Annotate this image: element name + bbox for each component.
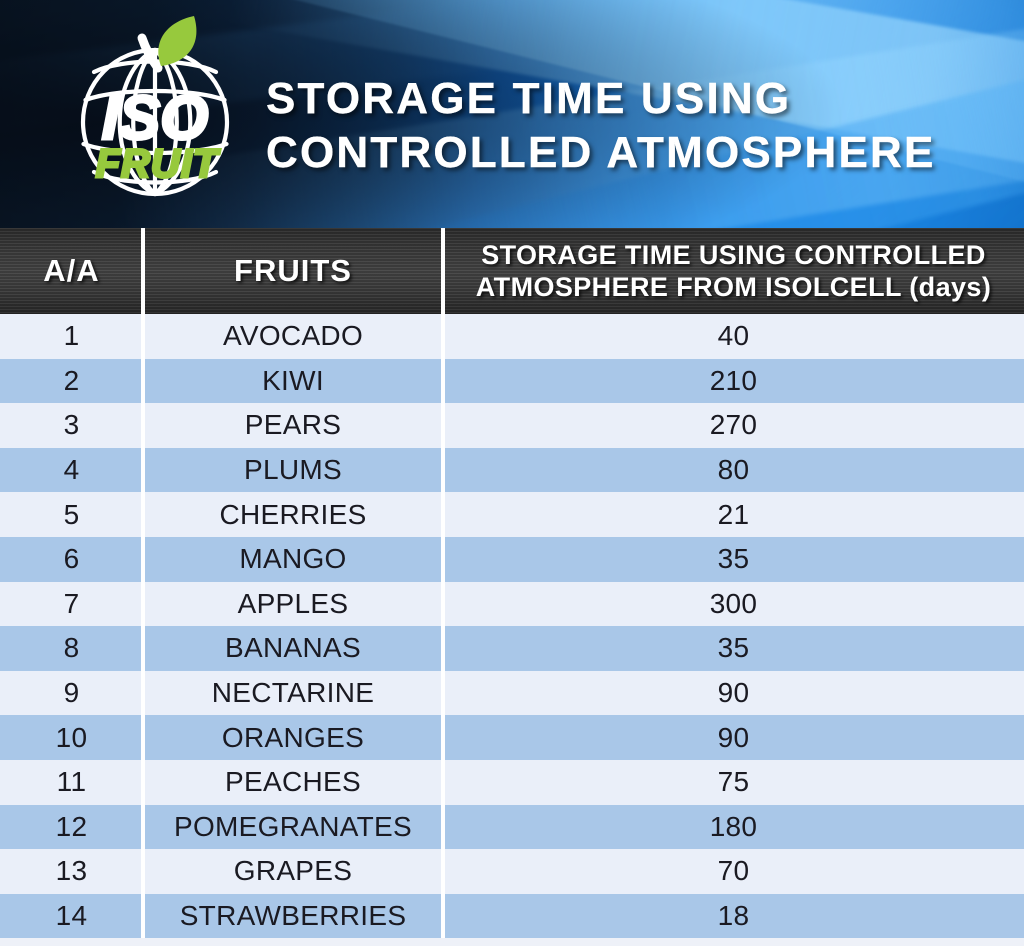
table-row: 9NECTARINE90 xyxy=(0,671,1024,716)
cell-fruit: AVOCADO xyxy=(143,314,443,359)
page-root: ISO FRUIT STORAGE TIME USING CONTROLLED … xyxy=(0,0,1024,946)
cell-aa: 7 xyxy=(0,582,143,627)
column-header-fruits: FRUITS xyxy=(143,228,443,314)
cell-fruit: PLUMS xyxy=(143,448,443,493)
cell-fruit: NECTARINE xyxy=(143,671,443,716)
table-row: 8BANANAS35 xyxy=(0,626,1024,671)
table-row: 7APPLES300 xyxy=(0,582,1024,627)
cell-aa: 10 xyxy=(0,715,143,760)
cell-days: 90 xyxy=(443,671,1024,716)
table-row: 1AVOCADO40 xyxy=(0,314,1024,359)
table-row: 3PEARS270 xyxy=(0,403,1024,448)
column-header-storage-time-line-1: STORAGE TIME USING CONTROLLED xyxy=(476,239,991,271)
cell-fruit: PEACHES xyxy=(143,760,443,805)
table-row: 14STRAWBERRIES18 xyxy=(0,894,1024,939)
table-header-row: A/A FRUITS STORAGE TIME USING CONTROLLED… xyxy=(0,228,1024,314)
cell-days: 80 xyxy=(443,448,1024,493)
cell-aa: 11 xyxy=(0,760,143,805)
table-body: 1AVOCADO402KIWI2103PEARS2704PLUMS805CHER… xyxy=(0,314,1024,938)
cell-fruit: MANGO xyxy=(143,537,443,582)
table-row: 10ORANGES90 xyxy=(0,715,1024,760)
cell-aa: 9 xyxy=(0,671,143,716)
table-row: 12POMEGRANATES180 xyxy=(0,805,1024,850)
cell-aa: 3 xyxy=(0,403,143,448)
cell-fruit: KIWI xyxy=(143,359,443,404)
cell-aa: 4 xyxy=(0,448,143,493)
page-title-line-2: CONTROLLED ATMOSPHERE xyxy=(266,126,1012,180)
table-row: 11PEACHES75 xyxy=(0,760,1024,805)
table-row: 2KIWI210 xyxy=(0,359,1024,404)
table-row: 6MANGO35 xyxy=(0,537,1024,582)
cell-days: 270 xyxy=(443,403,1024,448)
cell-days: 180 xyxy=(443,805,1024,850)
cell-aa: 2 xyxy=(0,359,143,404)
logo-text-fruit: FRUIT xyxy=(96,142,221,186)
column-header-aa: A/A xyxy=(0,228,143,314)
cell-days: 40 xyxy=(443,314,1024,359)
cell-days: 35 xyxy=(443,626,1024,671)
cell-aa: 1 xyxy=(0,314,143,359)
cell-aa: 8 xyxy=(0,626,143,671)
column-header-storage-time-line-2: ATMOSPHERE FROM ISOLCELL (days) xyxy=(476,271,991,303)
page-title-line-1: STORAGE TIME USING xyxy=(266,72,1012,126)
storage-time-table: A/A FRUITS STORAGE TIME USING CONTROLLED… xyxy=(0,228,1024,938)
cell-aa: 5 xyxy=(0,492,143,537)
cell-days: 90 xyxy=(443,715,1024,760)
cell-fruit: CHERRIES xyxy=(143,492,443,537)
page-title: STORAGE TIME USING CONTROLLED ATMOSPHERE xyxy=(266,72,1012,180)
cell-days: 300 xyxy=(443,582,1024,627)
cell-days: 70 xyxy=(443,849,1024,894)
cell-fruit: ORANGES xyxy=(143,715,443,760)
cell-aa: 14 xyxy=(0,894,143,939)
cell-fruit: PEARS xyxy=(143,403,443,448)
cell-days: 18 xyxy=(443,894,1024,939)
cell-days: 210 xyxy=(443,359,1024,404)
cell-days: 21 xyxy=(443,492,1024,537)
cell-fruit: APPLES xyxy=(143,582,443,627)
cell-aa: 13 xyxy=(0,849,143,894)
cell-fruit: STRAWBERRIES xyxy=(143,894,443,939)
cell-fruit: GRAPES xyxy=(143,849,443,894)
cell-aa: 6 xyxy=(0,537,143,582)
cell-fruit: POMEGRANATES xyxy=(143,805,443,850)
cell-days: 35 xyxy=(443,537,1024,582)
table-row: 4PLUMS80 xyxy=(0,448,1024,493)
header-banner: ISO FRUIT STORAGE TIME USING CONTROLLED … xyxy=(0,0,1024,228)
cell-aa: 12 xyxy=(0,805,143,850)
table-row: 5CHERRIES21 xyxy=(0,492,1024,537)
cell-fruit: BANANAS xyxy=(143,626,443,671)
table-row: 13GRAPES70 xyxy=(0,849,1024,894)
iso-fruit-logo: ISO FRUIT xyxy=(62,14,248,214)
cell-days: 75 xyxy=(443,760,1024,805)
column-header-storage-time: STORAGE TIME USING CONTROLLED ATMOSPHERE… xyxy=(443,228,1024,314)
